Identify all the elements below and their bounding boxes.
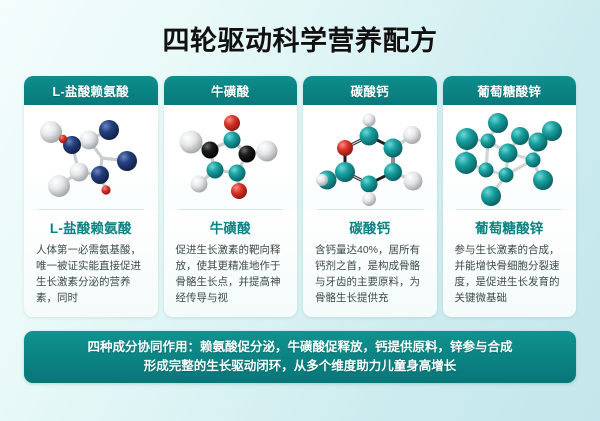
card-description: 人体第一必需氨基酸，唯一被证实能直接促进生长激素分泌的营养素，同时 (34, 243, 148, 307)
card-body-lysine: L-盐酸赖氨酸 人体第一必需氨基酸，唯一被证实能直接促进生长激素分泌的营养素，同… (24, 210, 158, 317)
card-header-taurine: 牛磺酸 (164, 76, 298, 105)
summary-banner: 四种成分协同作用：赖氨酸促分泌，牛磺酸促释放，钙提供原料，锌参与合成 形成完整的… (24, 331, 576, 383)
ingredient-card-zinc-gluconate[interactable]: 葡萄糖酸锌 (443, 76, 577, 317)
card-description: 含钙量达40%，居所有钙剂之首，是构成骨骼与牙齿的主要原料，为骨骼生长提供充 (313, 243, 427, 307)
card-header-label: L-盐酸赖氨酸 (53, 81, 129, 100)
zinc-gluconate-molecule-icon (448, 110, 570, 206)
molecule-area-zinc-gluconate (443, 105, 577, 209)
card-body-zinc-gluconate: 葡萄糖酸锌 参与生长激素的合成，并能增快骨细胞分裂速度，是促进生长发育的关键微基… (443, 210, 577, 317)
card-header-label: 葡萄糖酸锌 (477, 81, 541, 100)
card-header-calcium-carbonate: 碳酸钙 (303, 76, 437, 105)
card-header-label: 碳酸钙 (351, 81, 389, 100)
page-title: 四轮驱动科学营养配方 (163, 0, 438, 58)
card-body-taurine: 牛磺酸 促进生长激素的靶向释放，使其更精准地作于骨骼生长点，并提高神经传导与视 (164, 210, 298, 317)
card-header-zinc-gluconate: 葡萄糖酸锌 (443, 76, 577, 105)
card-subtitle: 碳酸钙 (349, 217, 390, 237)
summary-line-1: 四种成分协同作用：赖氨酸促分泌，牛磺酸促释放，钙提供原料，锌参与合成 (87, 338, 512, 357)
card-header-label: 牛磺酸 (211, 81, 249, 100)
card-description: 参与生长激素的合成，并能增快骨细胞分裂速度，是促进生长发育的关键微基础 (453, 243, 567, 307)
lysine-molecule-icon (29, 110, 153, 206)
card-subtitle: L-盐酸赖氨酸 (50, 217, 132, 237)
card-description: 促进生长激素的靶向释放，使其更精准地作于骨骼生长点，并提高神经传导与视 (174, 243, 288, 307)
card-subtitle: 葡萄糖酸锌 (475, 217, 544, 237)
molecule-area-taurine (164, 105, 298, 209)
molecule-area-calcium-carbonate (303, 105, 437, 209)
ingredient-card-taurine[interactable]: 牛磺酸 (164, 76, 298, 317)
calcium-carbonate-molecule-icon (311, 110, 429, 206)
ingredient-card-lysine[interactable]: L-盐酸赖氨酸 (24, 76, 158, 317)
ingredient-cards-row: L-盐酸赖氨酸 (24, 76, 576, 317)
card-subtitle: 牛磺酸 (210, 217, 251, 237)
card-body-calcium-carbonate: 碳酸钙 含钙量达40%，居所有钙剂之首，是构成骨骼与牙齿的主要原料，为骨骼生长提… (303, 210, 437, 317)
taurine-molecule-icon (171, 110, 289, 206)
infographic-poster: 四轮驱动科学营养配方 L-盐酸赖氨酸 (0, 0, 600, 421)
ingredient-card-calcium-carbonate[interactable]: 碳酸钙 (303, 76, 437, 317)
card-header-lysine: L-盐酸赖氨酸 (24, 76, 158, 105)
molecule-area-lysine (24, 105, 158, 209)
summary-line-2: 形成完整的生长驱动闭环，从多个维度助力儿童身高增长 (144, 357, 457, 376)
